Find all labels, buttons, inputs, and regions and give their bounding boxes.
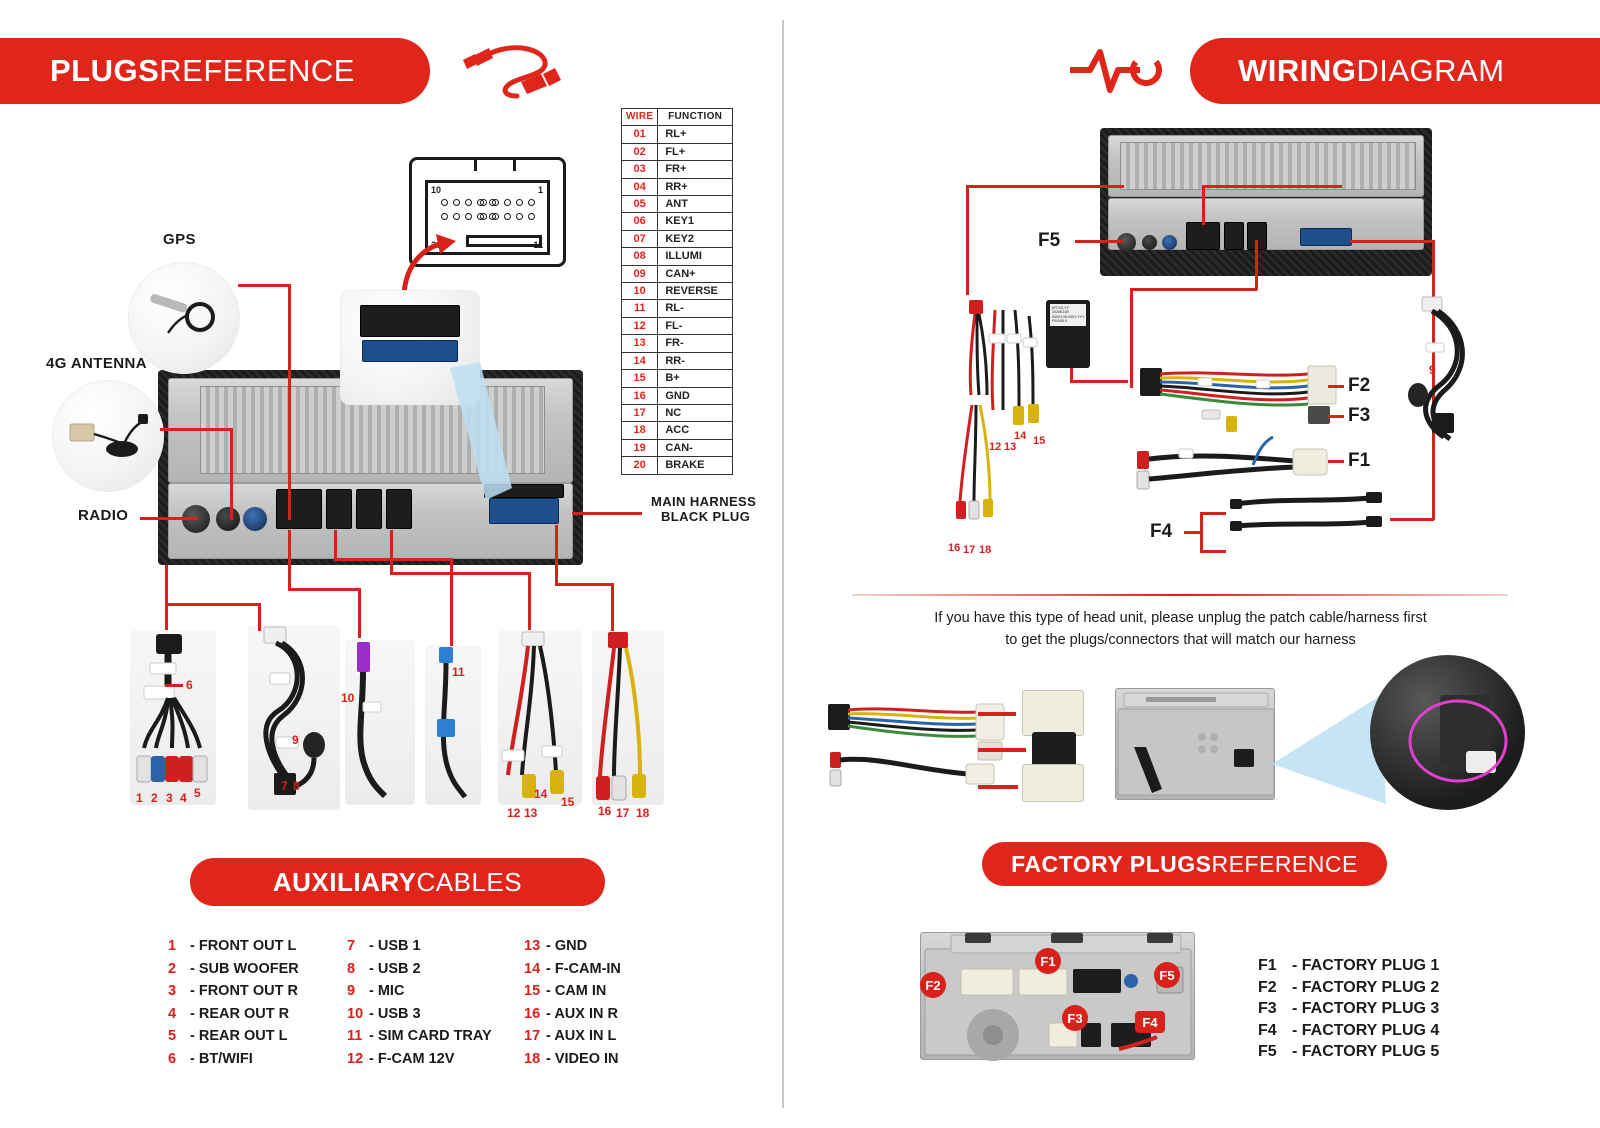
wire-function: FL- <box>658 317 733 334</box>
main-harness-label-line2: BLACK PLUG <box>661 509 750 524</box>
wire-number: 18 <box>622 422 658 439</box>
radio-label: RADIO <box>78 507 128 524</box>
4g-antenna-jack <box>216 507 240 531</box>
table-row: 16GND <box>622 387 733 404</box>
decoder-leader-v <box>1070 368 1073 382</box>
f4-leader-top <box>1200 512 1226 515</box>
table-row: 02FL+ <box>622 143 733 160</box>
list-item: 17- AUX IN L <box>524 1025 621 1048</box>
leader-cable-6 <box>555 525 558 585</box>
wire-number: 11 <box>622 300 658 317</box>
list-item: 9- MIC <box>347 980 492 1003</box>
list-item: 3- FRONT OUT R <box>168 980 299 1003</box>
rear-connector-b <box>326 489 352 529</box>
wire-function: RL+ <box>658 126 733 143</box>
cable-num-3: 3 <box>166 791 173 805</box>
patch-harness-photo <box>828 690 1018 800</box>
right-mic-cable-photo <box>1392 295 1488 445</box>
installation-note: If you have this type of head unit, plea… <box>858 608 1503 652</box>
antenna-4g-label: 4G ANTENNA <box>46 355 147 372</box>
wire-function: B+ <box>658 370 733 387</box>
cable-num-7: 7 <box>281 779 288 793</box>
table-row: 18ACC <box>622 422 733 439</box>
aux-legend-number: 13 <box>524 935 546 958</box>
wire-function: FR- <box>658 335 733 352</box>
note-line-1: If you have this type of head unit, plea… <box>858 608 1503 630</box>
leader-cable-5v <box>528 572 531 630</box>
wiring-cam-harness <box>985 310 1047 430</box>
factory-badge-f3: F3 <box>1062 1005 1088 1031</box>
aux-legend-text: - SUB WOOFER <box>190 961 299 977</box>
aux-banner-light: CABLES <box>417 867 523 898</box>
wire-number: 20 <box>622 457 658 474</box>
wiring-gps-jack <box>1162 235 1177 250</box>
aux-legend-text: - USB 2 <box>369 961 421 977</box>
table-row: 11RL- <box>622 300 733 317</box>
gps-leader-v <box>288 284 291 520</box>
wiring-4g-jack <box>1142 235 1157 250</box>
factory-head-unit-photo <box>1115 688 1275 800</box>
table-row: 17NC <box>622 404 733 421</box>
wiring-num-13: 13 <box>1004 441 1016 453</box>
gps-antenna-jack <box>243 507 267 531</box>
aux-legend-number: 18 <box>524 1048 546 1071</box>
note-divider <box>852 594 1508 596</box>
f5-leader <box>1075 240 1123 243</box>
pin-label-top-right: 1 <box>538 185 543 195</box>
list-item: 15- CAM IN <box>524 980 621 1003</box>
factory-badge-f2: F2 <box>920 972 946 998</box>
f1-leader <box>1328 460 1344 463</box>
cable-num-1: 1 <box>136 791 143 805</box>
wire-function: RL- <box>658 300 733 317</box>
table-row: 04RR+ <box>622 178 733 195</box>
factory-legend-text: - FACTORY PLUG 2 <box>1292 979 1439 996</box>
leader-cable-1-h <box>165 603 260 606</box>
aux-legend-column-1: 1- FRONT OUT L2- SUB WOOFER3- FRONT OUT … <box>168 935 299 1070</box>
list-item: F3- FACTORY PLUG 3 <box>1258 998 1439 1020</box>
plugs-reference-banner: PLUGS REFERENCE <box>0 38 430 104</box>
wire-number: 15 <box>622 370 658 387</box>
radio-leader-line <box>140 517 198 520</box>
cable-num-17: 17 <box>616 806 629 820</box>
wiring-connector-b <box>1224 222 1244 250</box>
aux-legend-number: 14 <box>524 958 546 981</box>
wire-function: NC <box>658 404 733 421</box>
wire-function: ILLUMI <box>658 248 733 265</box>
col-header-wire: WIRE <box>622 109 658 126</box>
leader-cable-1 <box>165 565 168 630</box>
factory-badge-f5: F5 <box>1154 962 1180 988</box>
aux-legend-number: 1 <box>168 935 190 958</box>
cable-photo-cam <box>498 630 582 805</box>
pinout-center-slot <box>466 235 542 247</box>
table-row: 01RL+ <box>622 126 733 143</box>
list-item: 6- BT/WIFI <box>168 1048 299 1071</box>
aux-legend-number: 16 <box>524 1003 546 1026</box>
aux-legend-text: - REAR OUT L <box>190 1028 287 1044</box>
list-item: F4- FACTORY PLUG 4 <box>1258 1020 1439 1042</box>
aux-legend-text: - SIM CARD TRAY <box>369 1028 492 1044</box>
aux-legend-text: - AUX IN L <box>546 1028 616 1044</box>
cable-6-leader <box>165 684 183 687</box>
aux-legend-text: - CAM IN <box>546 983 606 999</box>
factory-plugs-reference-banner: FACTORY PLUGS REFERENCE <box>982 842 1387 886</box>
cable-num-5: 5 <box>194 786 201 800</box>
leader-cable-4 <box>334 530 337 560</box>
table-row: 06KEY1 <box>622 213 733 230</box>
leader-cable-3d <box>358 588 361 638</box>
antenna-leader-v <box>230 428 233 520</box>
list-item: 13- GND <box>524 935 621 958</box>
factory-legend-code: F5 <box>1258 1041 1292 1063</box>
wire-number: 07 <box>622 230 658 247</box>
gps-label: GPS <box>163 231 196 248</box>
aux-legend-column-2: 7- USB 18- USB 29- MIC10- USB 311- SIM C… <box>347 935 492 1070</box>
cable-num-10: 10 <box>341 691 354 705</box>
cable-num-18: 18 <box>636 806 649 820</box>
wire-function: KEY2 <box>658 230 733 247</box>
f3-leader <box>1328 415 1344 418</box>
black-plug-zoom-shell <box>360 305 460 337</box>
f5-label: F5 <box>1038 230 1060 252</box>
plugs-banner-light: REFERENCE <box>159 53 355 89</box>
factory-legend-text: - FACTORY PLUG 1 <box>1292 957 1439 974</box>
wire-number: 10 <box>622 283 658 300</box>
pinout-notch <box>474 157 516 171</box>
manual-page: PLUGS REFERENCE WIRE FUNCTION 01RL+02FL+… <box>0 0 1600 1128</box>
wire-function: ANT <box>658 196 733 213</box>
list-item: 14- F-CAM-IN <box>524 958 621 981</box>
aux-legend-number: 8 <box>347 958 369 981</box>
route-right-h2 <box>1390 518 1434 521</box>
wiring-diagram-banner: WIRING DIAGRAM <box>1190 38 1600 104</box>
wire-number: 14 <box>622 352 658 369</box>
aux-legend-number: 15 <box>524 980 546 1003</box>
aux-legend-text: - BT/WIFI <box>190 1051 253 1067</box>
rear-connector-a <box>276 489 322 529</box>
table-row: 19CAN- <box>622 439 733 456</box>
antenna-4g-photo <box>68 402 152 470</box>
cable-num-9: 9 <box>292 733 299 747</box>
aux-legend-number: 4 <box>168 1003 190 1026</box>
wire-number: 19 <box>622 439 658 456</box>
wire-function: GND <box>658 387 733 404</box>
gps-antenna-photo <box>148 285 224 351</box>
aux-legend-number: 12 <box>347 1048 369 1071</box>
aux-legend-text: - F-CAM 12V <box>369 1051 454 1067</box>
note-line-2: to get the plugs/connectors that will ma… <box>858 630 1503 652</box>
table-row: 12FL- <box>622 317 733 334</box>
table-row: 10REVERSE <box>622 283 733 300</box>
f3-label: F3 <box>1348 405 1370 427</box>
wiring-num-12: 12 <box>989 441 1001 453</box>
aux-legend-number: 7 <box>347 935 369 958</box>
wiring-head-unit-heatsink <box>1120 142 1416 190</box>
aux-legend-text: - F-CAM-IN <box>546 961 621 977</box>
cable-num-14: 14 <box>534 787 547 801</box>
leader-cable-6h <box>555 583 613 586</box>
list-item: 4- REAR OUT R <box>168 1003 299 1026</box>
factory-plug-photo-1 <box>1022 690 1084 736</box>
wire-function-table: WIRE FUNCTION 01RL+02FL+03FR+04RR+05ANT0… <box>621 108 733 475</box>
factory-plug-photo-2 <box>1032 732 1076 768</box>
table-row: 09CAN+ <box>622 265 733 282</box>
patch-link-1 <box>978 712 1016 716</box>
patch-link-2 <box>978 748 1026 752</box>
leader-cable-4h <box>334 558 452 561</box>
table-row: 05ANT <box>622 196 733 213</box>
wire-number: 01 <box>622 126 658 143</box>
wire-function: ACC <box>658 422 733 439</box>
aux-banner-bold: AUXILIARY <box>273 867 417 898</box>
wire-number: 17 <box>622 404 658 421</box>
factory-legend-text: - FACTORY PLUG 5 <box>1292 1043 1439 1060</box>
f2-label: F2 <box>1348 375 1370 397</box>
usb-cable-icon <box>455 36 565 106</box>
wiring-num-15: 15 <box>1033 435 1045 447</box>
route-c-v2 <box>1130 288 1133 388</box>
wire-function: FR+ <box>658 161 733 178</box>
list-item: 10- USB 3 <box>347 1003 492 1026</box>
factory-plugs-legend: F1- FACTORY PLUG 1F2- FACTORY PLUG 2F3- … <box>1258 955 1439 1063</box>
factory-badge-f4: F4 <box>1135 1011 1165 1033</box>
wire-function: RR- <box>658 352 733 369</box>
f4-leader-bottom <box>1200 550 1226 553</box>
factory-zoom-circle <box>1370 655 1525 810</box>
table-header-row: WIRE FUNCTION <box>622 109 733 126</box>
cable-num-16: 16 <box>598 804 611 818</box>
cable-photo-aux <box>592 630 664 805</box>
wiring-connector-a <box>1186 222 1220 250</box>
wire-number: 12 <box>622 317 658 334</box>
aux-legend-number: 2 <box>168 958 190 981</box>
wiring-ant-jack <box>1117 233 1136 252</box>
main-harness-leader <box>572 512 642 515</box>
table-row: 07KEY2 <box>622 230 733 247</box>
aux-legend-number: 6 <box>168 1048 190 1071</box>
route-mid-h <box>1202 185 1342 188</box>
main-wiring-harness-photo <box>1140 360 1340 440</box>
factory-badge-f1: F1 <box>1035 948 1061 974</box>
aux-legend-text: - VIDEO IN <box>546 1051 619 1067</box>
pin-row-4 <box>480 213 535 220</box>
auxiliary-cables-banner: AUXILIARY CABLES <box>190 858 605 906</box>
wire-number: 06 <box>622 213 658 230</box>
list-item: 12- F-CAM 12V <box>347 1048 492 1071</box>
main-harness-label-line1: MAIN HARNESS <box>651 494 756 509</box>
aux-legend-number: 17 <box>524 1025 546 1048</box>
cable-num-6: 6 <box>186 678 193 692</box>
decoder-leader-h <box>1070 380 1128 383</box>
aux-legend-number: 10 <box>347 1003 369 1026</box>
wiring-banner-bold: WIRING <box>1238 53 1356 89</box>
table-row: 20BRAKE <box>622 457 733 474</box>
f4-leader-v <box>1200 512 1203 552</box>
pin-row-2 <box>480 199 535 206</box>
list-item: 8- USB 2 <box>347 958 492 981</box>
aux-legend-number: 5 <box>168 1025 190 1048</box>
aux-legend-column-3: 13- GND14- F-CAM-IN15- CAM IN16- AUX IN … <box>524 935 621 1070</box>
gps-leader-h <box>238 284 290 287</box>
wire-function: REVERSE <box>658 283 733 300</box>
route-c-h <box>1130 288 1257 291</box>
list-item: 11- SIM CARD TRAY <box>347 1025 492 1048</box>
wire-number: 13 <box>622 335 658 352</box>
wiring-main-plug <box>1300 228 1352 246</box>
table-row: 03FR+ <box>622 161 733 178</box>
wiring-num-16: 16 <box>948 542 960 554</box>
cable-photo-usb3 <box>345 640 415 805</box>
aux-legend-text: - GND <box>546 938 587 954</box>
black-plug-zoom-body <box>362 340 458 362</box>
cable-num-15: 15 <box>561 795 574 809</box>
wire-number: 03 <box>622 161 658 178</box>
wiring-num-14: 14 <box>1014 430 1026 442</box>
wire-function: BRAKE <box>658 457 733 474</box>
table-row: 08ILLUMI <box>622 248 733 265</box>
wire-function: RR+ <box>658 178 733 195</box>
route-right-h <box>1350 240 1434 243</box>
leader-cable-5 <box>390 530 393 574</box>
wire-number: 05 <box>622 196 658 213</box>
factory-legend-code: F4 <box>1258 1020 1292 1042</box>
factory-plug-photo-3 <box>1022 764 1084 802</box>
list-item: F2- FACTORY PLUG 2 <box>1258 977 1439 999</box>
cable-num-11: 11 <box>452 665 465 679</box>
aux-legend-number: 3 <box>168 980 190 1003</box>
leader-cable-3h <box>288 588 360 591</box>
cable-num-8: 8 <box>293 779 300 793</box>
wire-function: KEY1 <box>658 213 733 230</box>
factory-legend-code: F1 <box>1258 955 1292 977</box>
wire-function: CAN- <box>658 439 733 456</box>
aux-legend-text: - FRONT OUT L <box>190 938 296 954</box>
leader-cable-3v <box>288 530 291 590</box>
cable-num-13: 13 <box>524 806 537 820</box>
wiring-banner-light: DIAGRAM <box>1356 53 1504 89</box>
aux-legend-text: - REAR OUT R <box>190 1006 289 1022</box>
wire-number: 04 <box>622 178 658 195</box>
wire-function: CAN+ <box>658 265 733 282</box>
cable-num-12: 12 <box>507 806 520 820</box>
aux-legend-text: - USB 1 <box>369 938 421 954</box>
canbus-decoder-box: MT-SS-YY2024K21BSWV3.05.0001.YYYP/N165.0 <box>1046 300 1090 368</box>
wiring-num-18: 18 <box>979 544 991 556</box>
list-item: 2- SUB WOOFER <box>168 958 299 981</box>
wire-number: 08 <box>622 248 658 265</box>
patch-link-3 <box>978 785 1018 789</box>
wire-number: 02 <box>622 143 658 160</box>
rear-connector-c <box>356 489 382 529</box>
cable-num-4: 4 <box>180 791 187 805</box>
cable-num-2: 2 <box>151 791 158 805</box>
route-left-v <box>966 185 969 295</box>
aux-legend-text: - MIC <box>369 983 404 999</box>
leader-cable-6v <box>611 583 614 631</box>
f2-leader <box>1328 385 1344 388</box>
wiring-num-17: 17 <box>963 544 975 556</box>
leader-cable-2 <box>258 603 261 631</box>
route-c-v <box>1255 240 1258 290</box>
wiring-num-9: 9 <box>1429 363 1436 377</box>
aux-legend-number: 9 <box>347 980 369 1003</box>
list-item: 18- VIDEO IN <box>524 1048 621 1071</box>
factory-legend-code: F2 <box>1258 977 1292 999</box>
aux-legend-text: - USB 3 <box>369 1006 421 1022</box>
table-row: 14RR- <box>622 352 733 369</box>
aux-legend-number: 11 <box>347 1025 369 1048</box>
f4-usb-extensions-photo <box>1230 490 1390 540</box>
factory-banner-bold: FACTORY PLUGS <box>1011 851 1211 878</box>
aux-legend-text: - FRONT OUT R <box>190 983 298 999</box>
zoom-beam <box>440 360 590 510</box>
route-left-h <box>966 185 1124 188</box>
pin-label-top-left: 10 <box>431 185 441 195</box>
list-item: 16- AUX IN R <box>524 1003 621 1026</box>
route-mid-v <box>1202 185 1205 225</box>
col-header-function: FUNCTION <box>658 109 733 126</box>
list-item: 5- REAR OUT L <box>168 1025 299 1048</box>
f1-label: F1 <box>1348 450 1370 472</box>
rear-connector-d <box>386 489 412 529</box>
factory-legend-text: - FACTORY PLUG 3 <box>1292 1000 1439 1017</box>
table-row: 15B+ <box>622 370 733 387</box>
wire-number: 09 <box>622 265 658 282</box>
cable-photo-rca-bt <box>130 630 216 805</box>
plugs-banner-bold: PLUGS <box>50 53 159 89</box>
wire-number: 16 <box>622 387 658 404</box>
pulse-connector-icon <box>1068 42 1178 100</box>
leader-cable-5h <box>390 572 530 575</box>
list-item: F1- FACTORY PLUG 1 <box>1258 955 1439 977</box>
page-divider <box>782 20 784 1108</box>
list-item: 1- FRONT OUT L <box>168 935 299 958</box>
list-item: 7- USB 1 <box>347 935 492 958</box>
factory-legend-code: F3 <box>1258 998 1292 1020</box>
antenna-leader-h <box>160 428 232 431</box>
aux-legend-text: - AUX IN R <box>546 1006 618 1022</box>
factory-legend-text: - FACTORY PLUG 4 <box>1292 1022 1439 1039</box>
f4-label: F4 <box>1150 521 1172 543</box>
list-item: F5- FACTORY PLUG 5 <box>1258 1041 1439 1063</box>
table-row: 13FR- <box>622 335 733 352</box>
wire-function: FL+ <box>658 143 733 160</box>
factory-banner-light: REFERENCE <box>1211 851 1357 878</box>
